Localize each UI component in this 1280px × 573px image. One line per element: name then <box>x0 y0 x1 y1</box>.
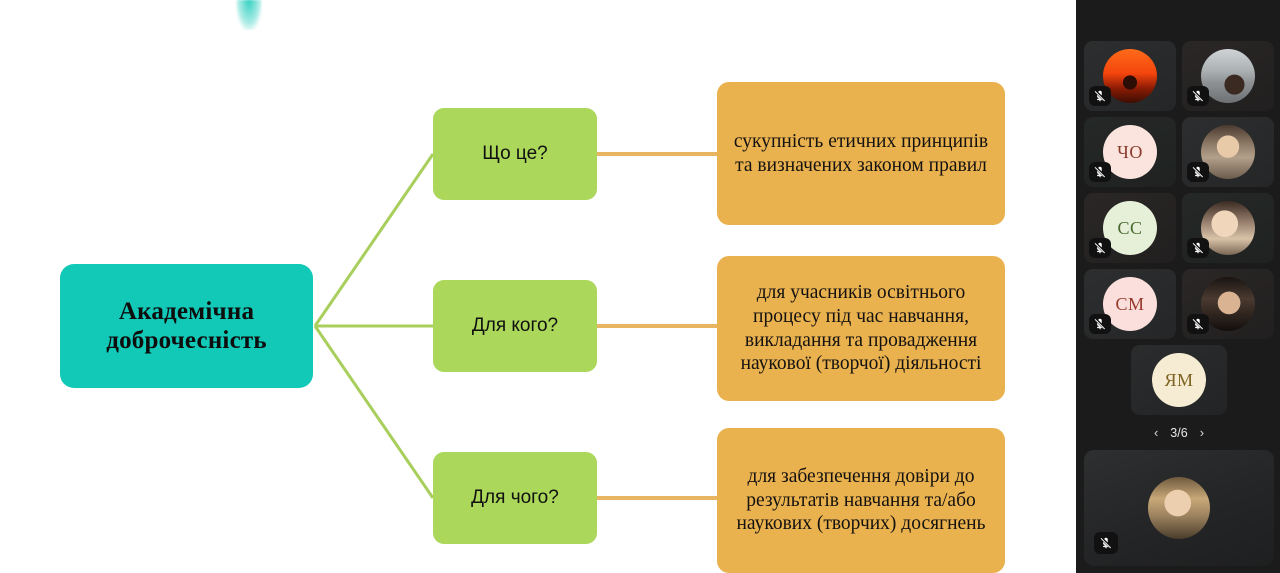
participant-tile[interactable]: СС <box>1084 193 1176 263</box>
participant-tile[interactable] <box>1182 193 1274 263</box>
answer-node-1[interactable]: сукупність етичних принципів та визначен… <box>717 82 1005 225</box>
question-node-3[interactable]: Для чого? <box>433 452 597 544</box>
answer-node-2-label: для учасників освітнього процесу під час… <box>727 281 995 377</box>
question-node-2-label: Для кого? <box>472 315 558 337</box>
question-node-1[interactable]: Що це? <box>433 108 597 200</box>
diagram-root-node[interactable]: Академічна доброчесність <box>60 264 313 388</box>
question-node-3-label: Для чого? <box>471 487 559 509</box>
avatar-initials: ЯМ <box>1164 370 1193 391</box>
answer-node-2[interactable]: для учасників освітнього процесу під час… <box>717 256 1005 401</box>
pagination-next-icon[interactable]: › <box>1197 424 1207 441</box>
mic-off-glyph <box>1093 317 1107 331</box>
mic-off-glyph <box>1099 536 1113 550</box>
mic-off-icon[interactable] <box>1187 314 1209 334</box>
question-node-1-label: Що це? <box>482 143 547 165</box>
avatar <box>1103 49 1157 103</box>
avatar-initials: СС <box>1117 218 1142 239</box>
avatar <box>1148 477 1210 539</box>
participant-tile-grid: ЧОСССМ <box>1084 41 1274 339</box>
participant-tile[interactable]: ЧО <box>1084 117 1176 187</box>
mic-off-icon[interactable] <box>1089 162 1111 182</box>
green-connector-3 <box>315 326 433 498</box>
participant-tile[interactable] <box>1182 269 1274 339</box>
mic-off-icon[interactable] <box>1187 86 1209 106</box>
avatar <box>1201 277 1255 331</box>
participant-tile-solo[interactable]: ЯМ <box>1131 345 1227 415</box>
participant-pagination[interactable]: ‹ 3/6 › <box>1084 424 1274 441</box>
mic-off-icon[interactable] <box>1089 238 1111 258</box>
mic-off-icon[interactable] <box>1187 162 1209 182</box>
mic-off-glyph <box>1093 89 1107 103</box>
screen: Академічна доброчесність Що це? Для кого… <box>0 0 1280 573</box>
avatar <box>1201 125 1255 179</box>
mic-off-icon[interactable] <box>1187 238 1209 258</box>
avatar: ЧО <box>1103 125 1157 179</box>
root-node-label: Академічна доброчесність <box>60 297 313 356</box>
avatar <box>1201 201 1255 255</box>
participant-tile[interactable]: СМ <box>1084 269 1176 339</box>
participant-tile[interactable] <box>1182 41 1274 111</box>
avatar-initials: СМ <box>1115 294 1144 315</box>
mic-off-icon[interactable] <box>1094 532 1118 554</box>
mic-off-glyph <box>1191 241 1205 255</box>
question-node-2[interactable]: Для кого? <box>433 280 597 372</box>
participant-tile[interactable] <box>1084 41 1176 111</box>
green-connector-1 <box>315 154 433 326</box>
avatar: СС <box>1103 201 1157 255</box>
self-view-tile[interactable] <box>1084 450 1274 566</box>
mic-off-icon[interactable] <box>1089 86 1111 106</box>
mic-off-glyph <box>1191 89 1205 103</box>
pagination-prev-icon[interactable]: ‹ <box>1151 424 1161 441</box>
mic-off-glyph <box>1191 317 1205 331</box>
mic-off-glyph <box>1191 165 1205 179</box>
presentation-slide: Академічна доброчесність Що це? Для кого… <box>0 0 1076 573</box>
avatar: ЯМ <box>1152 353 1206 407</box>
answer-node-1-label: сукупність етичних принципів та визначен… <box>727 130 995 178</box>
participant-tile[interactable] <box>1182 117 1274 187</box>
video-call-sidebar: ЧОСССМ ЯМ ‹ 3/6 › <box>1076 0 1280 573</box>
pagination-label: 3/6 <box>1170 426 1187 440</box>
answer-node-3[interactable]: для забезпечення довіри до результатів н… <box>717 428 1005 573</box>
mic-off-glyph <box>1093 165 1107 179</box>
mic-off-glyph <box>1093 241 1107 255</box>
answer-node-3-label: для забезпечення довіри до результатів н… <box>727 465 995 537</box>
participant-tile-solo-row: ЯМ <box>1084 345 1274 415</box>
mic-off-icon[interactable] <box>1089 314 1111 334</box>
avatar <box>1201 49 1255 103</box>
avatar: СМ <box>1103 277 1157 331</box>
avatar-initials: ЧО <box>1117 142 1143 163</box>
